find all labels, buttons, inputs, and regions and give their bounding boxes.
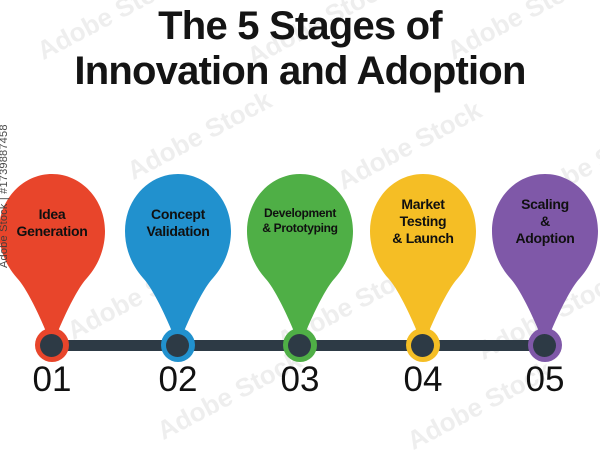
stage-dot-core-05: [533, 334, 556, 357]
stage-dot-core-04: [411, 334, 434, 357]
stage-label-01: Idea Generation: [0, 206, 105, 240]
stage-number-01: 01: [0, 360, 105, 400]
stage-label-05: Scaling & Adoption: [492, 196, 598, 247]
stage-label-04: Market Testing & Launch: [370, 196, 476, 247]
map-pin-icon: [125, 174, 231, 346]
stage-dot-core-03: [288, 334, 311, 357]
stage-dot-core-02: [166, 334, 189, 357]
stage-pin-04[interactable]: Market Testing & Launch: [370, 174, 476, 346]
title-line-1: The 5 Stages of: [0, 4, 600, 49]
pin-path-02: [125, 174, 231, 346]
map-pin-icon: [0, 174, 105, 346]
infographic-canvas: Adobe Stock Adobe Stock Adobe Stock Adob…: [0, 0, 600, 422]
stage-pin-03[interactable]: Development & Prototyping: [247, 174, 353, 346]
stage-pin-05[interactable]: Scaling & Adoption: [492, 174, 598, 346]
map-pin-icon: [247, 174, 353, 346]
title-line-2: Innovation and Adoption: [0, 49, 600, 94]
pin-path-01: [0, 174, 105, 346]
stage-label-02: Concept Validation: [125, 206, 231, 240]
watermark-tile: Adobe Stock: [122, 85, 277, 187]
stage-pin-01[interactable]: Idea Generation: [0, 174, 105, 346]
stage-label-03: Development & Prototyping: [247, 206, 353, 236]
stock-credit-watermark: Adobe Stock | #1739887458: [0, 124, 10, 268]
stage-dot-core-01: [40, 334, 63, 357]
stage-number-05: 05: [492, 360, 598, 400]
stage-pin-02[interactable]: Concept Validation: [125, 174, 231, 346]
stage-number-03: 03: [247, 360, 353, 400]
stage-number-02: 02: [125, 360, 231, 400]
stage-number-04: 04: [370, 360, 476, 400]
page-title: The 5 Stages of Innovation and Adoption: [0, 4, 600, 94]
pin-path-03: [247, 174, 353, 346]
